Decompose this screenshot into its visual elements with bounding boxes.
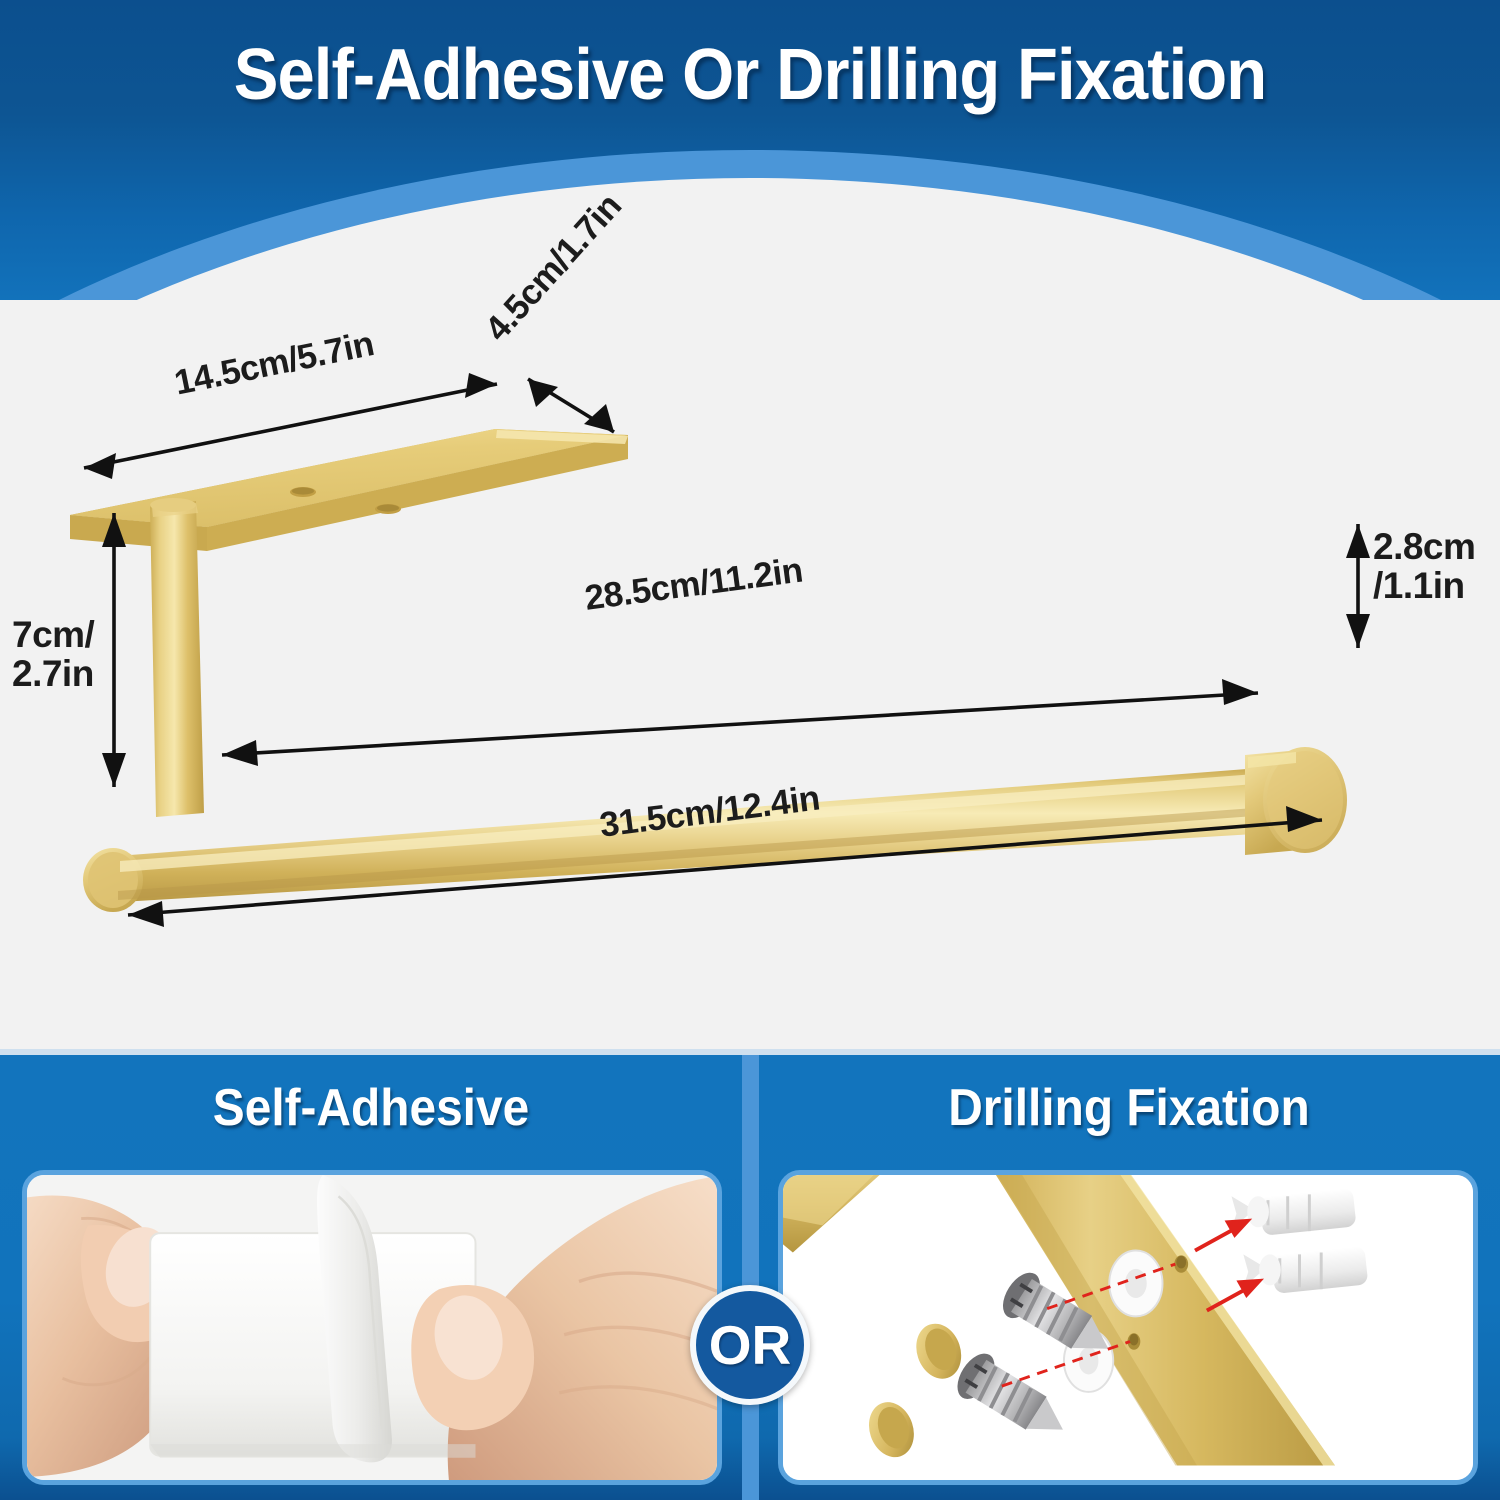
dimension-label-post-height: 7cm/ 2.7in <box>12 615 94 693</box>
self-adhesive-title: Self-Adhesive <box>30 1078 713 1138</box>
dimension-label-end-diameter-in: /1.1in <box>1373 566 1475 605</box>
product-diagram-area: 14.5cm/5.7in 4.5cm/1.7in 7cm/ 2.7in 28.5… <box>0 255 1500 1055</box>
vertical-post <box>150 498 204 817</box>
washer-upper <box>1109 1251 1162 1317</box>
drilling-hardware-illustration <box>783 1175 1473 1480</box>
fixation-methods-section: Self-Adhesive Drilling Fixation <box>0 1055 1500 1500</box>
product-stage: 14.5cm/5.7in 4.5cm/1.7in 7cm/ 2.7in 28.5… <box>0 255 1500 1055</box>
drilling-fixation-photo-panel <box>778 1170 1478 1485</box>
peeling-adhesive-illustration <box>27 1175 717 1480</box>
or-badge-label: OR <box>709 1313 792 1377</box>
page-title: Self-Adhesive Or Drilling Fixation <box>53 34 1448 116</box>
dimension-label-post-height-in: 2.7in <box>12 654 94 693</box>
bar-end-cap <box>1245 747 1347 855</box>
or-badge: OR <box>690 1285 810 1405</box>
drilling-fixation-title: Drilling Fixation <box>788 1078 1471 1138</box>
dimension-label-end-diameter: 2.8cm /1.1in <box>1373 527 1475 605</box>
panel-divider-stripe <box>742 1055 759 1500</box>
dimension-label-post-height-cm: 7cm/ <box>12 615 94 654</box>
dimension-label-end-diameter-cm: 2.8cm <box>1373 527 1475 566</box>
self-adhesive-photo-panel <box>22 1170 722 1485</box>
